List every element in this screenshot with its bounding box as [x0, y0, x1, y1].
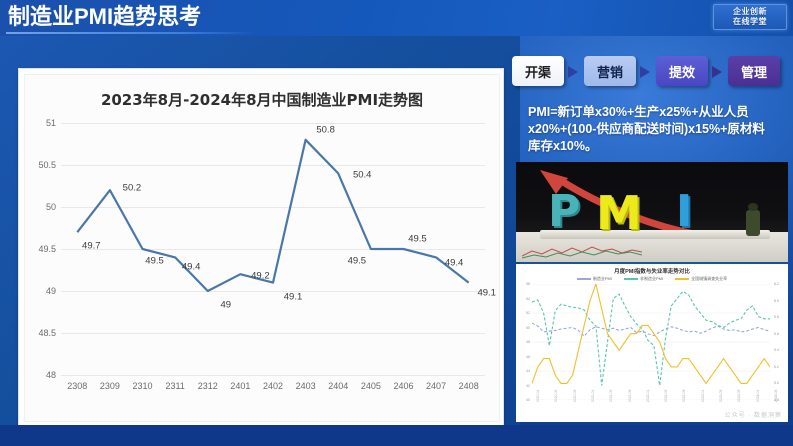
mini-x-tick: 2020-09 — [573, 390, 577, 402]
mini-right-tick: 6.0 — [774, 299, 779, 303]
pmi-y-tick: 49.5 — [38, 244, 56, 254]
flow-step-guanli[interactable]: 管理 — [728, 56, 780, 86]
pmi-chart-title: 2023年8月-2024年8月中国制造业PMI走势图 — [25, 89, 499, 110]
pmi-chart-inner: 2023年8月-2024年8月中国制造业PMI走势图 4848.54949.55… — [24, 74, 500, 422]
mini-series-line — [532, 284, 770, 383]
pmi-data-label: 49.4 — [182, 262, 201, 273]
mini-x-tick: 2022-05 — [664, 390, 668, 402]
pmi-x-tick: 2403 — [296, 381, 316, 391]
mini-left-tick: 42 — [526, 384, 530, 388]
mini-legend-item: 全国城镇调查失业率 — [675, 276, 727, 282]
mini-x-tick: 2023-09 — [737, 390, 741, 402]
mini-right-tick: 6.2 — [774, 282, 779, 286]
flow-step-kaiqu[interactable]: 开渠 — [512, 56, 564, 86]
mini-legend-swatch — [577, 278, 591, 280]
mini-chart-legend: 制造业PMI非制造业PMI全国城镇调查失业率 — [516, 276, 788, 282]
pmi-data-label: 49.1 — [477, 287, 496, 298]
pmi-formula-text: PMI=新订单x30%+生产x25%+从业人员x20%+(100-供应商配送时间… — [528, 104, 776, 155]
slide-footer — [0, 425, 793, 446]
mini-x-tick: 2020-05 — [554, 390, 558, 402]
logo-line-2: 在线学堂 — [733, 17, 767, 27]
mini-legend-label: 非制造业PMI — [640, 276, 663, 281]
flow-step-tixiao[interactable]: 提效 — [656, 56, 708, 86]
pmi-y-tick: 50.5 — [38, 160, 56, 170]
pmi-data-label: 49 — [220, 300, 231, 311]
pmi-data-label: 49.1 — [284, 291, 303, 302]
pmi-x-tick: 2402 — [263, 381, 283, 391]
mini-chart-title: 月度PMI指数与失业率走势对比 — [516, 267, 788, 275]
mini-left-tick: 50 — [526, 326, 530, 330]
pmi-x-tick: 2312 — [198, 381, 218, 391]
pmi-gridline — [61, 375, 485, 376]
pmi-y-tick: 50 — [46, 202, 56, 212]
pmi-y-tick: 51 — [46, 118, 56, 128]
pmi-data-label: 49.5 — [145, 256, 164, 267]
process-flow: 开渠 营销 提效 管理 — [512, 56, 788, 88]
mini-x-tick: 2023-01 — [701, 390, 705, 402]
pmi-y-tick: 48.5 — [38, 328, 56, 338]
mini-series-line — [532, 291, 770, 385]
mini-legend-label: 制造业PMI — [593, 276, 612, 281]
mini-chart-watermark: 公众号 · 数据洞察 — [725, 410, 782, 419]
flow-arrow-1-icon — [568, 66, 578, 78]
pmi-photo: P M I — [516, 162, 788, 262]
pmi-data-label: 50.8 — [316, 124, 335, 135]
mini-chart: 月度PMI指数与失业率走势对比 制造业PMI非制造业PMI全国城镇调查失业率 5… — [516, 264, 788, 422]
flow-arrow-2-icon — [640, 66, 650, 78]
pmi-data-label: 50.4 — [353, 170, 372, 181]
mini-x-tick: 2024-05 — [774, 390, 778, 402]
pmi-x-tick: 2311 — [165, 381, 184, 391]
mini-legend-swatch — [624, 278, 638, 280]
flow-arrow-3-icon — [712, 66, 722, 78]
mini-legend-label: 全国城镇调查失业率 — [691, 276, 727, 281]
mini-x-tick: 2023-05 — [719, 390, 723, 402]
mini-left-tick: 44 — [526, 369, 530, 373]
pmi-x-axis: 2308230923102311231224012402240324042405… — [61, 381, 485, 397]
photo-letter-i: I — [676, 190, 692, 234]
pmi-x-tick: 2404 — [328, 381, 348, 391]
pmi-x-tick: 2309 — [100, 381, 120, 391]
pmi-y-tick: 49 — [46, 286, 56, 296]
mini-right-tick: 5.6 — [774, 332, 779, 336]
mini-x-tick: 2024-01 — [756, 390, 760, 402]
mini-series-group — [532, 284, 770, 400]
mini-legend-swatch — [675, 278, 689, 280]
pmi-x-tick: 2406 — [393, 381, 413, 391]
pmi-data-label: 49.4 — [445, 258, 464, 269]
mini-x-tick: 2021-01 — [591, 390, 595, 402]
photo-chart-lines-icon — [522, 244, 642, 260]
flow-step-yingxiao[interactable]: 营销 — [584, 56, 636, 86]
mini-left-tick: 40 — [526, 398, 530, 402]
pmi-x-tick: 2408 — [459, 381, 479, 391]
mini-x-tick: 2022-09 — [682, 390, 686, 402]
mini-right-tick: 5.8 — [774, 315, 779, 319]
mini-legend-item: 制造业PMI — [577, 276, 612, 282]
mini-right-tick: 5.2 — [774, 365, 779, 369]
mini-right-tick: 5.4 — [774, 348, 779, 352]
photo-letter-m: M — [596, 190, 642, 236]
mini-chart-right-axis: 6.26.05.85.65.45.25.04.8 — [774, 284, 786, 400]
mini-chart-plot — [532, 284, 770, 400]
mini-left-tick: 52 — [526, 311, 530, 315]
pmi-line-series — [61, 123, 485, 375]
pmi-x-tick: 2405 — [361, 381, 381, 391]
pmi-data-label: 49.5 — [408, 234, 427, 245]
brand-logo: 企业创新 在线学堂 — [713, 4, 787, 30]
mini-x-tick: 2021-05 — [609, 390, 613, 402]
logo-line-1: 企业创新 — [733, 7, 767, 17]
mini-chart-left-axis: 565452504846444240 — [518, 284, 530, 400]
photo-figurine — [746, 210, 760, 236]
pmi-data-label: 49.2 — [251, 271, 270, 282]
slide: 制造业PMI趋势思考 企业创新 在线学堂 2023年8月-2024年8月中国制造… — [0, 0, 793, 446]
pmi-x-tick: 2407 — [426, 381, 446, 391]
pmi-x-tick: 2401 — [230, 381, 250, 391]
title-underline — [6, 32, 256, 34]
mini-left-tick: 54 — [526, 297, 530, 301]
mini-x-tick: 2022-01 — [646, 390, 650, 402]
pmi-y-tick: 48 — [46, 370, 56, 380]
pmi-x-tick: 2310 — [133, 381, 153, 391]
pmi-data-label: 49.5 — [348, 256, 367, 267]
photo-letter-p: P — [548, 190, 580, 234]
mini-x-tick: 2020-01 — [536, 390, 540, 402]
pmi-x-tick: 2308 — [67, 381, 87, 391]
pmi-plot-area: 49.750.249.549.44949.249.150.850.449.549… — [61, 123, 485, 375]
pmi-data-label: 50.2 — [123, 183, 142, 194]
pmi-data-label: 49.7 — [82, 241, 101, 252]
mini-left-tick: 46 — [526, 355, 530, 359]
mini-legend-item: 非制造业PMI — [624, 276, 663, 282]
mini-right-tick: 5.0 — [774, 381, 779, 385]
mini-left-tick: 48 — [526, 340, 530, 344]
pmi-chart-card: 2023年8月-2024年8月中国制造业PMI走势图 4848.54949.55… — [18, 68, 504, 426]
mini-x-tick: 2021-09 — [628, 390, 632, 402]
pmi-y-axis: 4848.54949.55050.551 — [25, 123, 59, 375]
mini-left-tick: 56 — [526, 282, 530, 286]
page-title: 制造业PMI趋势思考 — [8, 4, 201, 30]
slide-header: 制造业PMI趋势思考 企业创新 在线学堂 — [0, 0, 793, 36]
